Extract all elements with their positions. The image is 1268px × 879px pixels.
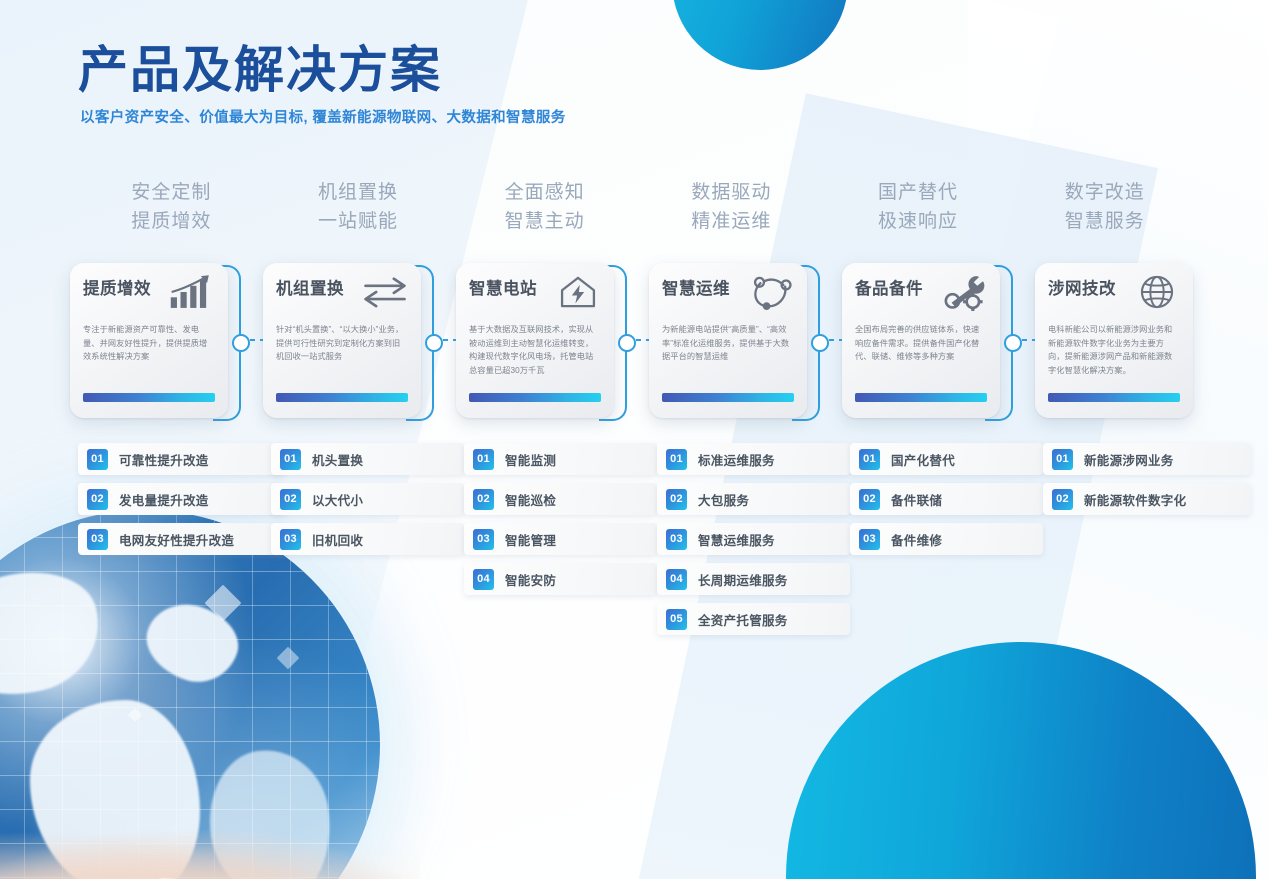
column-header-2-line1: 机组置换 [318,182,398,203]
item-column-1: 01 可靠性提升改造 02 发电量提升改造 03 电网友好性提升改造 [78,443,286,563]
solution-card-5-accent-bar [855,393,987,402]
solution-card-3-title: 智慧电站 [469,281,537,298]
item-number-badge: 05 [666,609,687,630]
list-item[interactable]: 03 备件维修 [850,523,1043,555]
item-column-6: 01 新能源涉网业务 02 新能源软件数字化 [1043,443,1251,523]
globe-icon [0,510,380,879]
solution-card-1-title: 提质增效 [83,281,151,298]
column-header-5-line1: 国产替代 [878,182,958,203]
solution-card-4-accent-bar [662,393,794,402]
page-subtitle: 以客户资产安全、价值最大为目标, 覆盖新能源物联网、大数据和智慧服务 [80,106,566,127]
solution-card-4-title: 智慧运维 [662,281,730,298]
solution-card-1-accent-bar [83,393,215,402]
column-header-5-line2: 极速响应 [825,207,1012,236]
solution-cards-row: 提质增效 专注于新能源资产可靠性、发电量、并网友好性提升，提供提质增效系统性解决… [70,263,1210,423]
item-number-badge: 01 [859,449,880,470]
item-number-badge: 01 [280,449,301,470]
item-number-badge: 01 [666,449,687,470]
item-number-badge: 01 [87,449,108,470]
item-number-badge: 02 [473,489,494,510]
list-item[interactable]: 02 备件联储 [850,483,1043,515]
item-column-5: 01 国产化替代 02 备件联储 03 备件维修 [850,443,1043,563]
solution-card-6[interactable]: 涉网技改 电科新能公司以新能源涉网业务和新能源软件数字化业务为主要方向，提新能源… [1035,263,1193,418]
item-column-2: 01 机头置换 02 以大代小 03 旧机回收 [271,443,464,563]
list-item[interactable]: 02 新能源软件数字化 [1043,483,1251,515]
solution-card-5-desc: 全国布局完善的供应链体系，快速响应备件需求。提供备件国产化替代、联储、维修等多种… [855,323,987,364]
solution-card-2-title: 机组置换 [276,281,344,298]
solution-card-2-desc: 针对“机头置换”、“以大换小”业务，提供可行性研究到定制化方案到旧机回收一站式服… [276,323,408,364]
item-number-badge: 02 [666,489,687,510]
list-item[interactable]: 03 智能管理 [464,523,657,555]
solution-card-2-accent-bar [276,393,408,402]
globe-grid-icon [1134,273,1180,311]
item-number-badge: 03 [87,529,108,550]
bar-chart-growth-icon [169,273,215,311]
item-label: 发电量提升改造 [119,490,209,509]
column-header-1: 安全定制 提质增效 [78,178,265,237]
page-header: 产品及解决方案 以客户资产安全、价值最大为目标, 覆盖新能源物联网、大数据和智慧… [78,42,566,127]
list-item[interactable]: 04 智能安防 [464,563,657,595]
column-header-5: 国产替代 极速响应 [825,178,1012,237]
column-header-6-line1: 数字改造 [1065,182,1145,203]
item-number-badge: 01 [1052,449,1073,470]
exchange-arrows-icon [362,273,408,311]
column-header-2: 机组置换 一站赋能 [265,178,452,237]
list-item[interactable]: 01 国产化替代 [850,443,1043,475]
solution-card-5[interactable]: 备品备件 全国布局完善的供应链体系，快速响应备件需求。提供备件国产化替代、联储、… [842,263,1000,418]
solution-card-3-accent-bar [469,393,601,402]
item-label: 备件维修 [891,530,942,549]
column-header-2-line2: 一站赋能 [265,207,452,236]
item-number-badge: 02 [1052,489,1073,510]
column-header-3-line1: 全面感知 [505,182,585,203]
list-item[interactable]: 03 电网友好性提升改造 [78,523,286,555]
item-label: 国产化替代 [891,450,955,469]
item-label: 智能安防 [505,570,556,589]
list-item[interactable]: 03 智慧运维服务 [657,523,850,555]
list-item[interactable]: 04 长周期运维服务 [657,563,850,595]
list-item[interactable]: 05 全资产托管服务 [657,603,850,635]
list-item[interactable]: 01 智能监测 [464,443,657,475]
list-item[interactable]: 02 大包服务 [657,483,850,515]
wrench-gears-icon [941,273,987,311]
solution-card-4[interactable]: 智慧运维 为新能源电站提供“高质量”、“高效率”标准化运维服务，提供基于大数据平… [649,263,807,418]
list-item[interactable]: 01 新能源涉网业务 [1043,443,1251,475]
connector-node-2 [425,334,443,352]
list-item[interactable]: 02 发电量提升改造 [78,483,286,515]
connector-node-4 [811,334,829,352]
solution-card-6-desc: 电科新能公司以新能源涉网业务和新能源软件数字化业务为主要方向，提新能源涉网产品和… [1048,323,1180,377]
solution-card-3-desc: 基于大数据及互联网技术，实现从被动运维到主动智慧化运维转变，构建现代数字化风电场… [469,323,601,377]
list-item[interactable]: 01 标准运维服务 [657,443,850,475]
column-header-6: 数字改造 智慧服务 [1011,178,1198,237]
column-header-4-line1: 数据驱动 [691,182,771,203]
item-label: 智能巡检 [505,490,556,509]
item-number-badge: 04 [473,569,494,590]
item-number-badge: 01 [473,449,494,470]
list-item[interactable]: 01 可靠性提升改造 [78,443,286,475]
list-item[interactable]: 01 机头置换 [271,443,464,475]
item-number-badge: 02 [87,489,108,510]
item-label: 新能源软件数字化 [1084,490,1186,509]
item-number-badge: 03 [666,529,687,550]
item-label: 机头置换 [312,450,363,469]
item-label: 以大代小 [312,490,363,509]
column-header-1-line2: 提质增效 [78,207,265,236]
item-label: 智能管理 [505,530,556,549]
item-number-badge: 03 [280,529,301,550]
connector-node-1 [232,334,250,352]
item-number-badge: 02 [859,489,880,510]
column-header-4-line2: 精准运维 [638,207,825,236]
solution-card-1-desc: 专注于新能源资产可靠性、发电量、并网友好性提升，提供提质增效系统性解决方案 [83,323,215,364]
solution-card-1[interactable]: 提质增效 专注于新能源资产可靠性、发电量、并网友好性提升，提供提质增效系统性解决… [70,263,228,418]
column-header-1-line1: 安全定制 [131,182,211,203]
house-lightning-icon [555,273,601,311]
item-label: 全资产托管服务 [698,610,788,629]
item-column-3: 01 智能监测 02 智能巡检 03 智能管理 04 智能安防 [464,443,657,603]
item-label: 标准运维服务 [698,450,775,469]
solution-card-5-title: 备品备件 [855,281,923,298]
page-title: 产品及解决方案 [78,42,566,98]
item-label: 旧机回收 [312,530,363,549]
network-nodes-icon [748,273,794,311]
solution-card-3[interactable]: 智慧电站 基于大数据及互联网技术，实现从被动运维到主动智慧化运维转变，构建现代数… [456,263,614,418]
item-label: 电网友好性提升改造 [119,530,234,549]
list-item[interactable]: 02 以大代小 [271,483,464,515]
item-label: 长周期运维服务 [698,570,788,589]
item-label: 可靠性提升改造 [119,450,209,469]
hands-illustration [0,830,420,879]
item-number-badge: 02 [280,489,301,510]
solution-card-6-title: 涉网技改 [1048,281,1116,298]
list-item[interactable]: 03 旧机回收 [271,523,464,555]
item-label: 备件联储 [891,490,942,509]
item-number-badge: 03 [473,529,494,550]
item-label: 新能源涉网业务 [1084,450,1174,469]
infographic-page: 产品及解决方案 以客户资产安全、价值最大为目标, 覆盖新能源物联网、大数据和智慧… [0,0,1268,879]
solution-card-2[interactable]: 机组置换 针对“机头置换”、“以大换小”业务，提供可行性研究到定制化方案到旧机回… [263,263,421,418]
item-number-badge: 04 [666,569,687,590]
column-headers: 安全定制 提质增效 机组置换 一站赋能 全面感知 智慧主动 数据驱动 精准运维 … [78,178,1198,237]
item-label: 大包服务 [698,490,749,509]
item-column-4: 01 标准运维服务 02 大包服务 03 智慧运维服务 04 长周期运维服务 0… [657,443,850,643]
item-number-badge: 03 [859,529,880,550]
item-label: 智慧运维服务 [698,530,775,549]
solution-card-4-desc: 为新能源电站提供“高质量”、“高效率”标准化运维服务，提供基于大数据平台的智慧运… [662,323,794,364]
connector-node-3 [618,334,636,352]
column-header-4: 数据驱动 精准运维 [638,178,825,237]
solution-card-6-accent-bar [1048,393,1180,402]
column-header-3-line2: 智慧主动 [451,207,638,236]
list-item[interactable]: 02 智能巡检 [464,483,657,515]
connector-node-5 [1004,334,1022,352]
item-label: 智能监测 [505,450,556,469]
column-header-3: 全面感知 智慧主动 [451,178,638,237]
column-header-6-line2: 智慧服务 [1011,207,1198,236]
